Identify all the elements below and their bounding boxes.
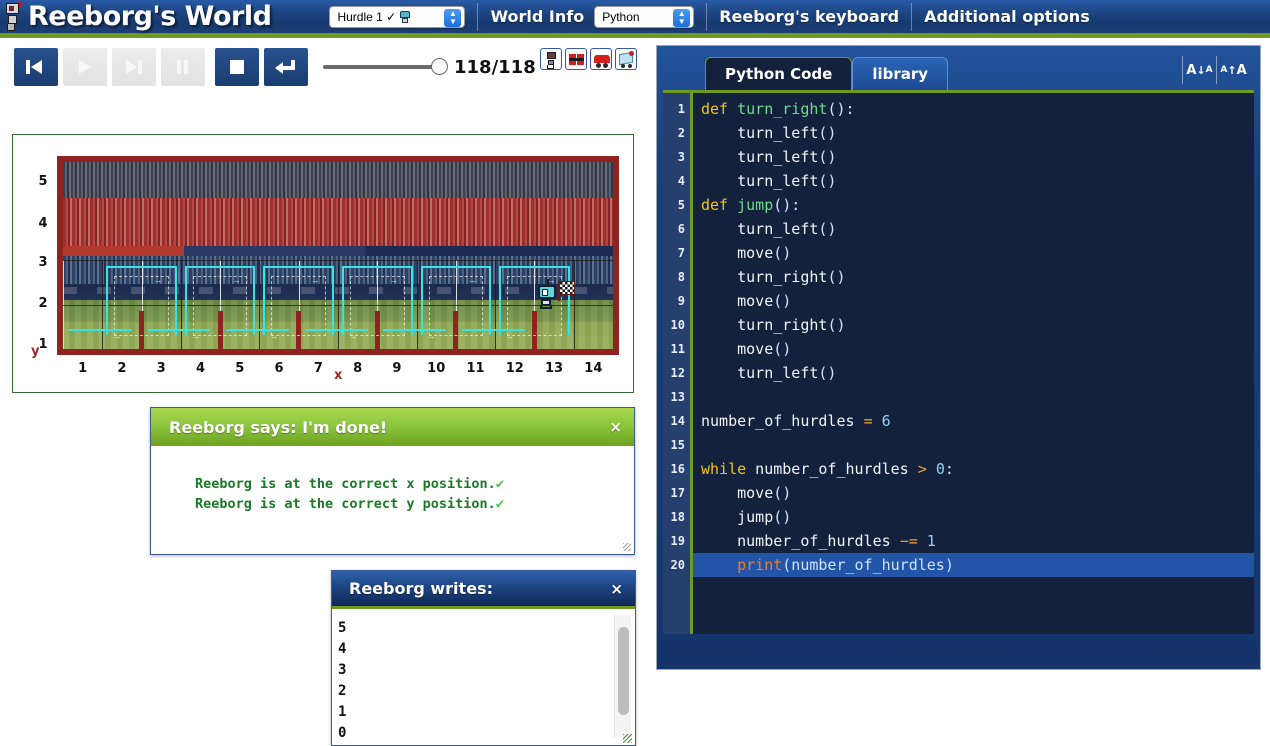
grid-line xyxy=(63,349,613,350)
output-line: 1 xyxy=(338,702,635,723)
reload-button[interactable] xyxy=(264,48,308,86)
output-line: 4 xyxy=(338,639,635,660)
scrollbar-thumb[interactable] xyxy=(618,627,629,715)
language-select-wrapper: Python ▲▼ xyxy=(594,6,694,28)
app-title: Reeborg's World xyxy=(28,1,271,32)
line-number: 14 xyxy=(663,409,690,433)
y-axis-tick: 2 xyxy=(35,296,51,311)
red-tool-icon[interactable] xyxy=(565,48,587,70)
code-line[interactable]: turn_right() xyxy=(693,313,1254,337)
direction-arrow: → xyxy=(348,332,357,341)
x-axis-tick: 5 xyxy=(220,361,259,376)
line-number: 8 xyxy=(663,265,690,289)
go-to-beginning-button[interactable] xyxy=(14,48,58,86)
trace-guide xyxy=(350,276,405,336)
trace-guide xyxy=(114,276,169,336)
world-tool-icons xyxy=(540,48,637,70)
line-number: 13 xyxy=(663,385,690,409)
dialog-title-bar[interactable]: Reeborg says: I'm done! × xyxy=(151,408,634,446)
x-axis-tick: 7 xyxy=(299,361,338,376)
tab-library[interactable]: library xyxy=(852,57,948,90)
code-line[interactable]: move() xyxy=(693,337,1254,361)
grid-line xyxy=(613,260,614,349)
robot-trace xyxy=(462,329,525,331)
robot-trace xyxy=(383,329,446,331)
x-axis-tick: 9 xyxy=(377,361,416,376)
x-axis-tick: 1 xyxy=(63,361,102,376)
font-increase-button[interactable]: A↑A xyxy=(1216,56,1250,84)
world-info-link[interactable]: World Info xyxy=(490,7,584,26)
top-header-bar: Reeborg's World Hurdle 1 ✓ ▲▼ World Info… xyxy=(0,0,1270,38)
direction-arrow: → xyxy=(153,276,162,285)
robot-icon[interactable] xyxy=(540,48,562,70)
direction-arrow: → xyxy=(389,276,398,285)
line-number: 20 xyxy=(663,553,690,577)
line-number: 15 xyxy=(663,433,690,457)
robot-sprite xyxy=(536,279,560,309)
direction-arrow: → xyxy=(112,332,121,341)
code-line[interactable]: turn_left() xyxy=(693,145,1254,169)
app-logo: Reeborg's World xyxy=(0,0,271,36)
resize-grip[interactable] xyxy=(623,734,632,743)
slider-track[interactable] xyxy=(323,65,440,69)
checkered-flag-icon xyxy=(559,281,575,295)
code-line[interactable]: def turn_right(): xyxy=(693,97,1254,121)
x-axis-tick: 11 xyxy=(456,361,495,376)
line-number: 2 xyxy=(663,121,690,145)
chevron-updown-icon: ▲▼ xyxy=(444,9,461,27)
dialog-title-bar[interactable]: Reeborg writes: × xyxy=(332,571,635,609)
x-axis-tick: 10 xyxy=(417,361,456,376)
pause-button[interactable] xyxy=(161,48,205,86)
direction-arrow: → xyxy=(191,332,200,341)
code-line[interactable]: def jump(): xyxy=(693,193,1254,217)
divider xyxy=(477,3,478,31)
dialog-body: Reeborg is at the correct x position.✔Re… xyxy=(151,446,634,514)
reeborg-keyboard-link[interactable]: Reeborg's keyboard xyxy=(719,7,899,26)
trace-guide xyxy=(193,276,248,336)
world-select[interactable]: Hurdle 1 ✓ ▲▼ xyxy=(329,6,465,28)
code-panel: Python Code library A↓A A↑A 123456789101… xyxy=(656,45,1261,670)
y-axis-tick: 4 xyxy=(35,216,51,231)
output-log: 543210 xyxy=(332,612,635,741)
skip-back-icon xyxy=(25,58,47,76)
left-column: 118/118 →→→→→→→→→→→→ 1234567891011121314… xyxy=(0,43,650,91)
output-line: 3 xyxy=(338,660,635,681)
slider-thumb[interactable] xyxy=(431,58,448,75)
x-axis-tick: 13 xyxy=(534,361,573,376)
line-number: 11 xyxy=(663,337,690,361)
output-line: 2 xyxy=(338,681,635,702)
y-axis-letter: y xyxy=(31,344,39,359)
check-icon: ✔ xyxy=(496,496,504,512)
code-line[interactable] xyxy=(693,385,1254,409)
validation-message: Reeborg is at the correct x position.✔ xyxy=(195,474,634,494)
stop-icon xyxy=(226,58,248,76)
language-select[interactable]: Python ▲▼ xyxy=(594,6,694,28)
x-axis-tick: 4 xyxy=(181,361,220,376)
x-axis-tick: 2 xyxy=(102,361,141,376)
language-select-value: Python xyxy=(602,10,639,24)
line-number: 19 xyxy=(663,529,690,553)
return-arrow-icon xyxy=(275,58,297,76)
code-line[interactable]: move() xyxy=(693,481,1254,505)
line-number: 16 xyxy=(663,457,690,481)
code-line[interactable]: move() xyxy=(693,289,1254,313)
speed-slider[interactable] xyxy=(323,65,440,69)
code-line[interactable]: jump() xyxy=(693,505,1254,529)
x-axis-tick: 6 xyxy=(259,361,298,376)
code-line[interactable]: number_of_hurdles −= 1 xyxy=(693,529,1254,553)
robot-trace xyxy=(226,329,289,331)
direction-arrow: → xyxy=(232,276,241,285)
stop-button[interactable] xyxy=(215,48,259,86)
playback-controls: 118/118 xyxy=(0,43,650,91)
code-line[interactable]: turn_right() xyxy=(693,265,1254,289)
code-line[interactable]: turn_left() xyxy=(693,217,1254,241)
play-button[interactable] xyxy=(63,48,107,86)
line-number: 17 xyxy=(663,481,690,505)
step-button[interactable] xyxy=(112,48,156,86)
x-axis-tick: 12 xyxy=(495,361,534,376)
trace-guide xyxy=(271,276,326,336)
robot-icon xyxy=(399,11,411,23)
reeborg-says-dialog: Reeborg says: I'm done! × Reeborg is at … xyxy=(150,407,635,555)
world-panel: →→→→→→→→→→→→ 1234567891011121314 54321 y… xyxy=(12,134,634,393)
y-axis-tick: 5 xyxy=(35,174,51,189)
output-line: 5 xyxy=(338,618,635,639)
line-number: 3 xyxy=(663,145,690,169)
robot-trace xyxy=(148,329,211,331)
blue-truck-icon[interactable] xyxy=(615,48,637,70)
robot-icon xyxy=(4,2,24,32)
output-line: 0 xyxy=(338,723,635,741)
code-tabs: Python Code library A↓A A↑A xyxy=(663,52,1254,90)
validation-message: Reeborg is at the correct y position.✔ xyxy=(195,494,634,514)
code-content[interactable]: def turn_right(): turn_left() turn_left(… xyxy=(693,93,1254,634)
check-icon: ✔ xyxy=(496,476,504,492)
dialog-title: Reeborg writes: xyxy=(349,579,493,598)
code-line[interactable]: print(number_of_hurdles) xyxy=(693,553,1254,577)
line-number: 18 xyxy=(663,505,690,529)
code-line[interactable]: move() xyxy=(693,241,1254,265)
code-editor[interactable]: 1234567891011121314151617181920 def turn… xyxy=(663,90,1254,634)
divider xyxy=(706,3,707,31)
direction-arrow: → xyxy=(311,276,320,285)
play-icon xyxy=(74,58,96,76)
robot-trace xyxy=(69,329,132,331)
resize-grip[interactable] xyxy=(623,543,631,551)
step-counter: 118/118 xyxy=(454,57,536,78)
direction-arrow: → xyxy=(427,332,436,341)
direction-arrow: → xyxy=(505,332,514,341)
line-number: 6 xyxy=(663,217,690,241)
validation-text: Reeborg is at the correct y position. xyxy=(195,496,496,512)
line-number-gutter: 1234567891011121314151617181920 xyxy=(663,93,693,634)
x-axis-tick: 3 xyxy=(142,361,181,376)
code-line[interactable]: turn_left() xyxy=(693,169,1254,193)
code-line[interactable] xyxy=(693,433,1254,457)
code-line[interactable]: turn_left() xyxy=(693,361,1254,385)
pause-icon xyxy=(172,58,194,76)
world-canvas[interactable]: →→→→→→→→→→→→ xyxy=(57,156,619,355)
code-line[interactable]: number_of_hurdles = 6 xyxy=(693,409,1254,433)
code-line[interactable]: while number_of_hurdles > 0: xyxy=(693,457,1254,481)
robot-trace xyxy=(305,329,368,331)
dialog-title: Reeborg says: I'm done! xyxy=(169,418,387,437)
divider xyxy=(911,3,912,31)
y-axis-tick: 3 xyxy=(35,255,51,270)
red-cart-icon[interactable] xyxy=(590,48,612,70)
additional-options-link[interactable]: Additional options xyxy=(924,7,1090,26)
line-number: 7 xyxy=(663,241,690,265)
step-forward-icon xyxy=(123,58,145,76)
line-number: 1 xyxy=(663,97,690,121)
tab-python-code[interactable]: Python Code xyxy=(705,57,852,90)
line-number: 10 xyxy=(663,313,690,337)
direction-arrow: → xyxy=(269,332,278,341)
line-number: 9 xyxy=(663,289,690,313)
font-decrease-button[interactable]: A↓A xyxy=(1182,56,1216,84)
code-line[interactable]: turn_left() xyxy=(693,121,1254,145)
trace-guide xyxy=(429,276,484,336)
close-icon[interactable]: × xyxy=(609,418,622,436)
x-axis-tick: 14 xyxy=(574,361,613,376)
direction-arrow: → xyxy=(468,276,477,285)
x-axis-letter: x xyxy=(334,368,342,383)
grid-line xyxy=(63,260,613,261)
line-number: 5 xyxy=(663,193,690,217)
chevron-updown-icon: ▲▼ xyxy=(673,9,690,27)
validation-text: Reeborg is at the correct x position. xyxy=(195,476,496,492)
close-icon[interactable]: × xyxy=(610,580,623,598)
line-number: 12 xyxy=(663,361,690,385)
world-select-value: Hurdle 1 ✓ xyxy=(337,10,396,24)
line-number: 4 xyxy=(663,169,690,193)
x-axis-tick: 8 xyxy=(338,361,377,376)
font-size-controls: A↓A A↑A xyxy=(1182,56,1250,84)
reeborg-writes-dialog: Reeborg writes: × 543210 xyxy=(331,570,636,746)
world-select-wrapper: Hurdle 1 ✓ ▲▼ xyxy=(329,6,465,28)
